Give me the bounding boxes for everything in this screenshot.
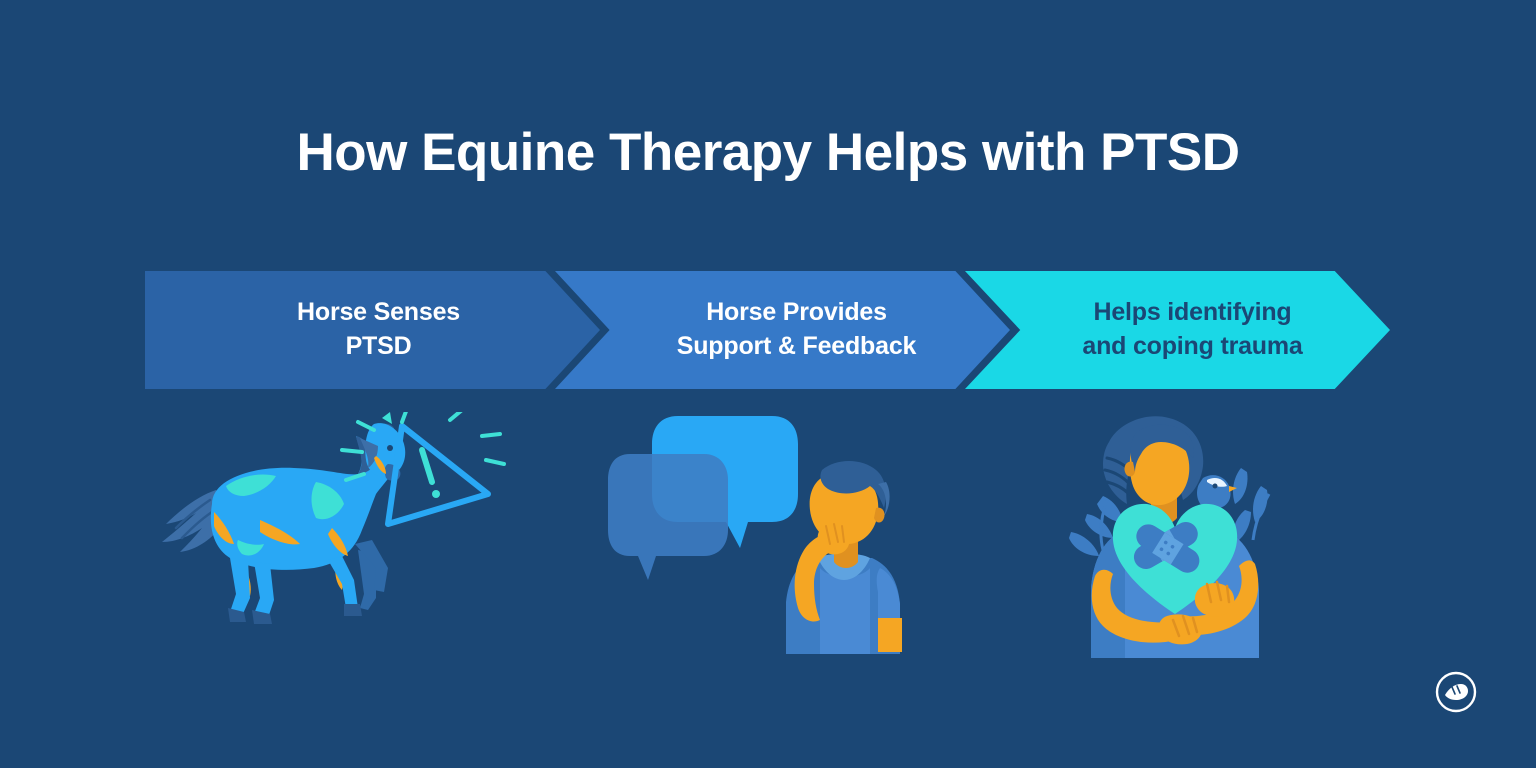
page-title: How Equine Therapy Helps with PTSD (0, 124, 1536, 182)
process-step-3-line2: and coping trauma (1082, 332, 1302, 360)
listening-person-icon (786, 461, 902, 654)
process-step-2-line2: Support & Feedback (677, 332, 917, 360)
speech-bubble-front-icon (608, 454, 728, 580)
brand-logo[interactable] (1434, 670, 1478, 714)
process-step-2-label: Horse Provides Support & Feedback (621, 296, 945, 364)
process-step-3[interactable]: Helps identifying and coping trauma (965, 271, 1390, 389)
listening-illustration (608, 412, 938, 662)
process-step-1-line1: Horse Senses (297, 298, 460, 326)
healing-illustration (1055, 408, 1315, 660)
process-step-2[interactable]: Horse Provides Support & Feedback (555, 271, 1010, 389)
leaves-right-icon (1233, 468, 1270, 544)
process-step-3-line1: Helps identifying (1093, 298, 1291, 326)
process-step-1[interactable]: Horse Senses PTSD (145, 271, 600, 389)
process-step-3-label: Helps identifying and coping trauma (1024, 296, 1330, 364)
process-step-2-line1: Horse Provides (706, 298, 887, 326)
process-step-1-line2: PTSD (346, 332, 412, 360)
infographic-canvas: How Equine Therapy Helps with PTSD Horse… (0, 0, 1536, 768)
process-flow: Horse Senses PTSD Horse Provides Support… (0, 271, 1536, 389)
process-step-1-label: Horse Senses PTSD (257, 296, 488, 364)
horse-illustration (150, 412, 530, 657)
